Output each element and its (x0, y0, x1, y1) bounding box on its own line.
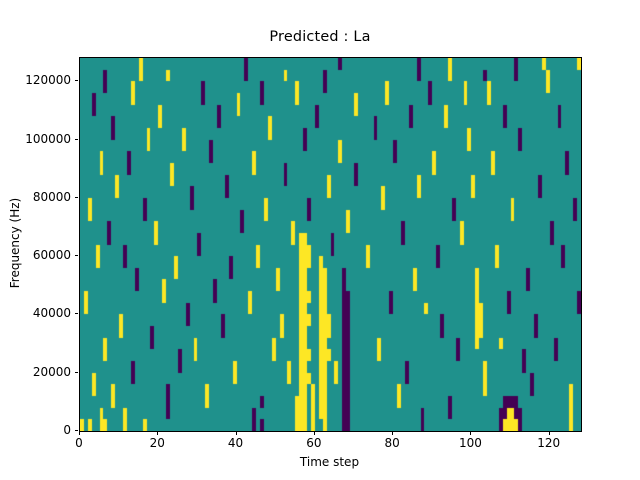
y-tick-mark (75, 430, 79, 431)
x-tick-mark (157, 431, 158, 435)
y-tick-label: 120000 (1, 73, 71, 87)
heatmap-canvas (80, 58, 581, 431)
y-tick-mark (75, 313, 79, 314)
matplotlib-figure: Predicted : La 020406080100120 020000400… (0, 0, 640, 480)
x-tick-label: 80 (362, 436, 422, 450)
y-axis-label: Frequency (Hz) (8, 163, 22, 323)
y-tick-label: 0 (1, 423, 71, 437)
x-tick-label: 40 (206, 436, 266, 450)
x-tick-label: 60 (284, 436, 344, 450)
heatmap-axes (79, 57, 582, 432)
x-tick-mark (79, 431, 80, 435)
x-tick-label: 120 (519, 436, 579, 450)
x-tick-mark (236, 431, 237, 435)
x-tick-label: 20 (127, 436, 187, 450)
x-tick-mark (314, 431, 315, 435)
x-tick-label: 100 (440, 436, 500, 450)
y-tick-mark (75, 372, 79, 373)
x-tick-mark (549, 431, 550, 435)
x-axis-label: Time step (79, 455, 580, 469)
y-tick-mark (75, 80, 79, 81)
y-tick-label: 20000 (1, 365, 71, 379)
y-tick-mark (75, 255, 79, 256)
x-tick-mark (392, 431, 393, 435)
chart-title: Predicted : La (0, 29, 640, 46)
y-tick-mark (75, 197, 79, 198)
x-tick-label: 0 (49, 436, 109, 450)
x-tick-mark (470, 431, 471, 435)
y-tick-mark (75, 139, 79, 140)
y-tick-label: 100000 (1, 132, 71, 146)
